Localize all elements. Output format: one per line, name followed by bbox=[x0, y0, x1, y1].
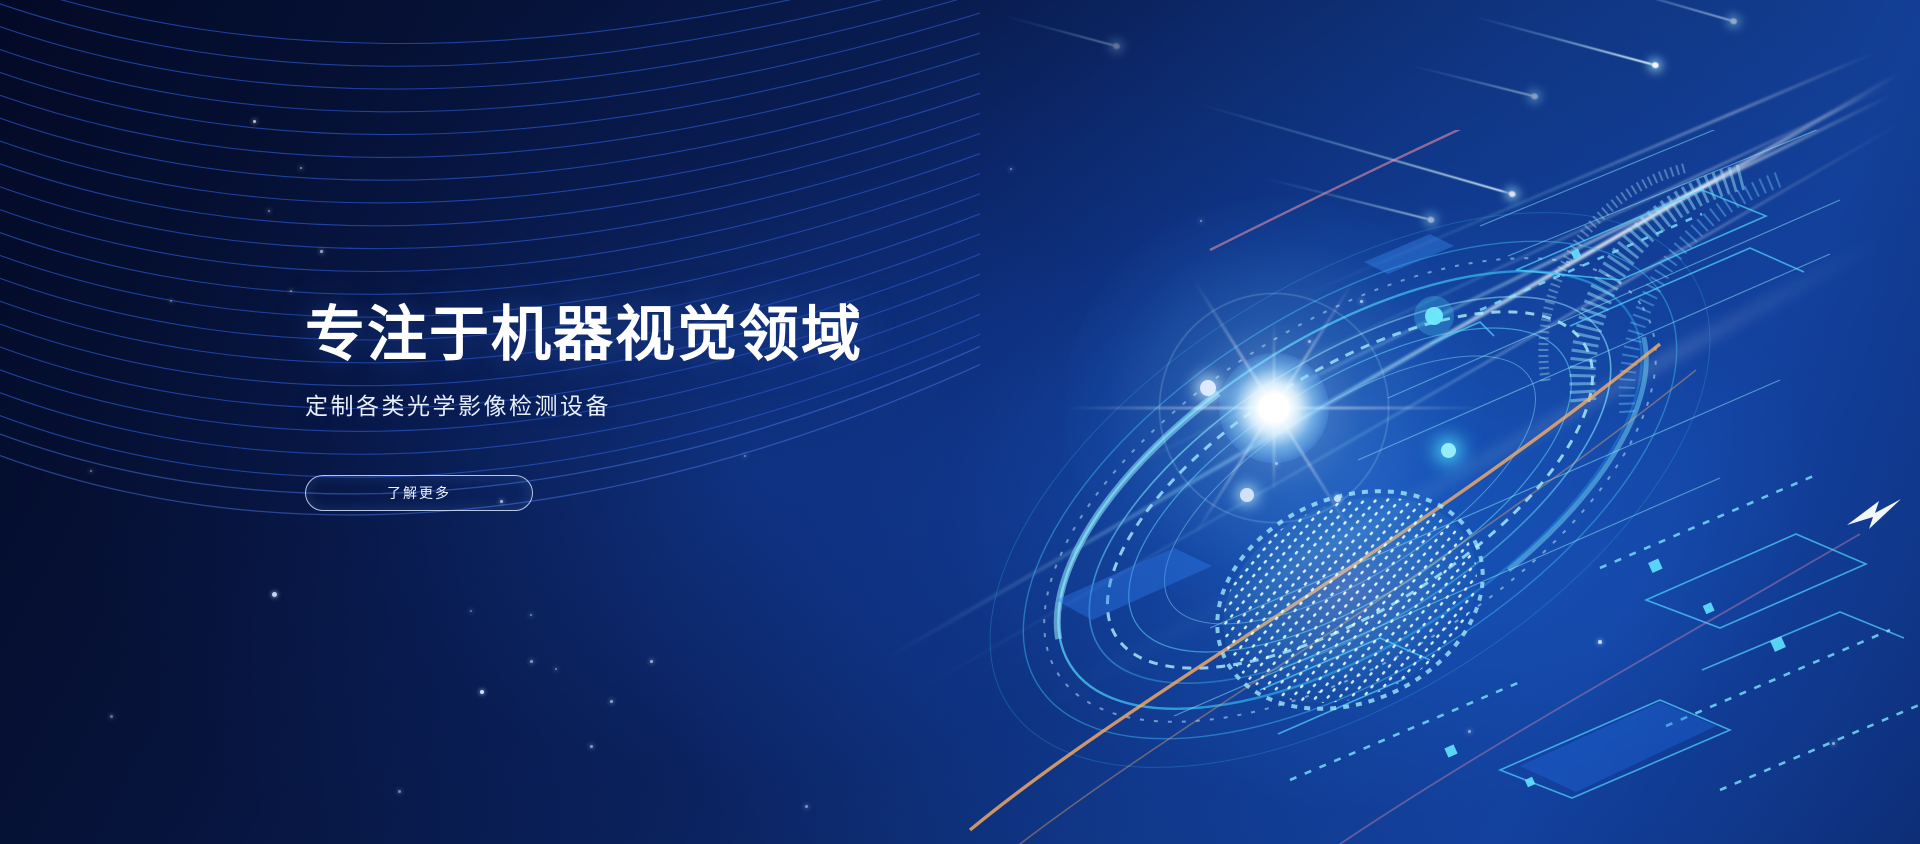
hero-content: 专注于机器视觉领域 定制各类光学影像检测设备 了解更多 bbox=[305, 300, 1065, 511]
page-subtitle: 定制各类光学影像检测设备 bbox=[305, 387, 1065, 421]
learn-more-button[interactable]: 了解更多 bbox=[305, 475, 533, 511]
page-title: 专注于机器视觉领域 bbox=[305, 300, 1065, 371]
hero-banner: 专注于机器视觉领域 定制各类光学影像检测设备 了解更多 bbox=[0, 0, 1920, 844]
